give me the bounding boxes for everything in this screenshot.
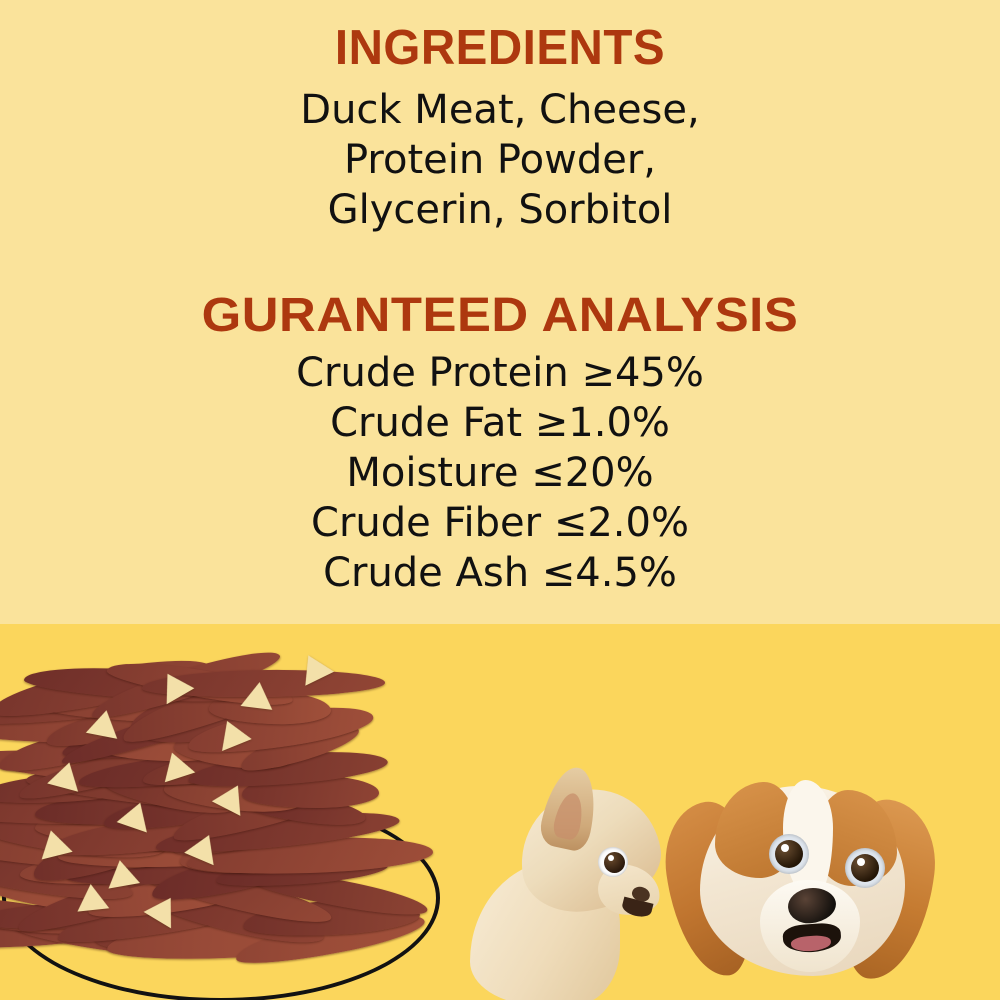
cheese-piece [75,882,110,911]
analysis-line: Moisture ≤20% [0,448,1000,498]
analysis-line: Crude Ash ≤4.5% [0,548,1000,598]
jerky-pile [0,634,460,964]
cheese-piece [104,857,140,888]
product-photo-band [0,624,1000,1000]
cheese-piece [241,680,276,710]
chihuahua-pupil [604,852,625,873]
analysis-line: Crude Fiber ≤2.0% [0,498,1000,548]
analysis-line: Crude Fat ≥1.0% [0,398,1000,448]
ingredients-line: Glycerin, Sorbitol [0,185,1000,235]
ingredients-list: Duck Meat, Cheese, Protein Powder, Glyce… [0,85,1000,235]
nutrition-info-panel: INGREDIENTS Duck Meat, Cheese, Protein P… [0,0,1000,624]
ingredients-heading: INGREDIENTS [15,24,985,73]
guaranteed-analysis-list: Crude Protein ≥45% Crude Fat ≥1.0% Moist… [0,348,1000,598]
spaniel-right-pupil [851,854,879,882]
analysis-line: Crude Protein ≥45% [0,348,1000,398]
ingredients-line: Duck Meat, Cheese, [0,85,1000,135]
duck-jerky-plate-photo [0,634,460,1000]
product-label: INGREDIENTS Duck Meat, Cheese, Protein P… [0,0,1000,1000]
chihuahua-dog-photo [470,755,685,1000]
guaranteed-analysis-heading: GURANTEED ANALYSIS [0,292,1000,340]
cocker-spaniel-dog-photo [665,760,955,1000]
spaniel-left-pupil [775,840,803,868]
ingredients-line: Protein Powder, [0,135,1000,185]
